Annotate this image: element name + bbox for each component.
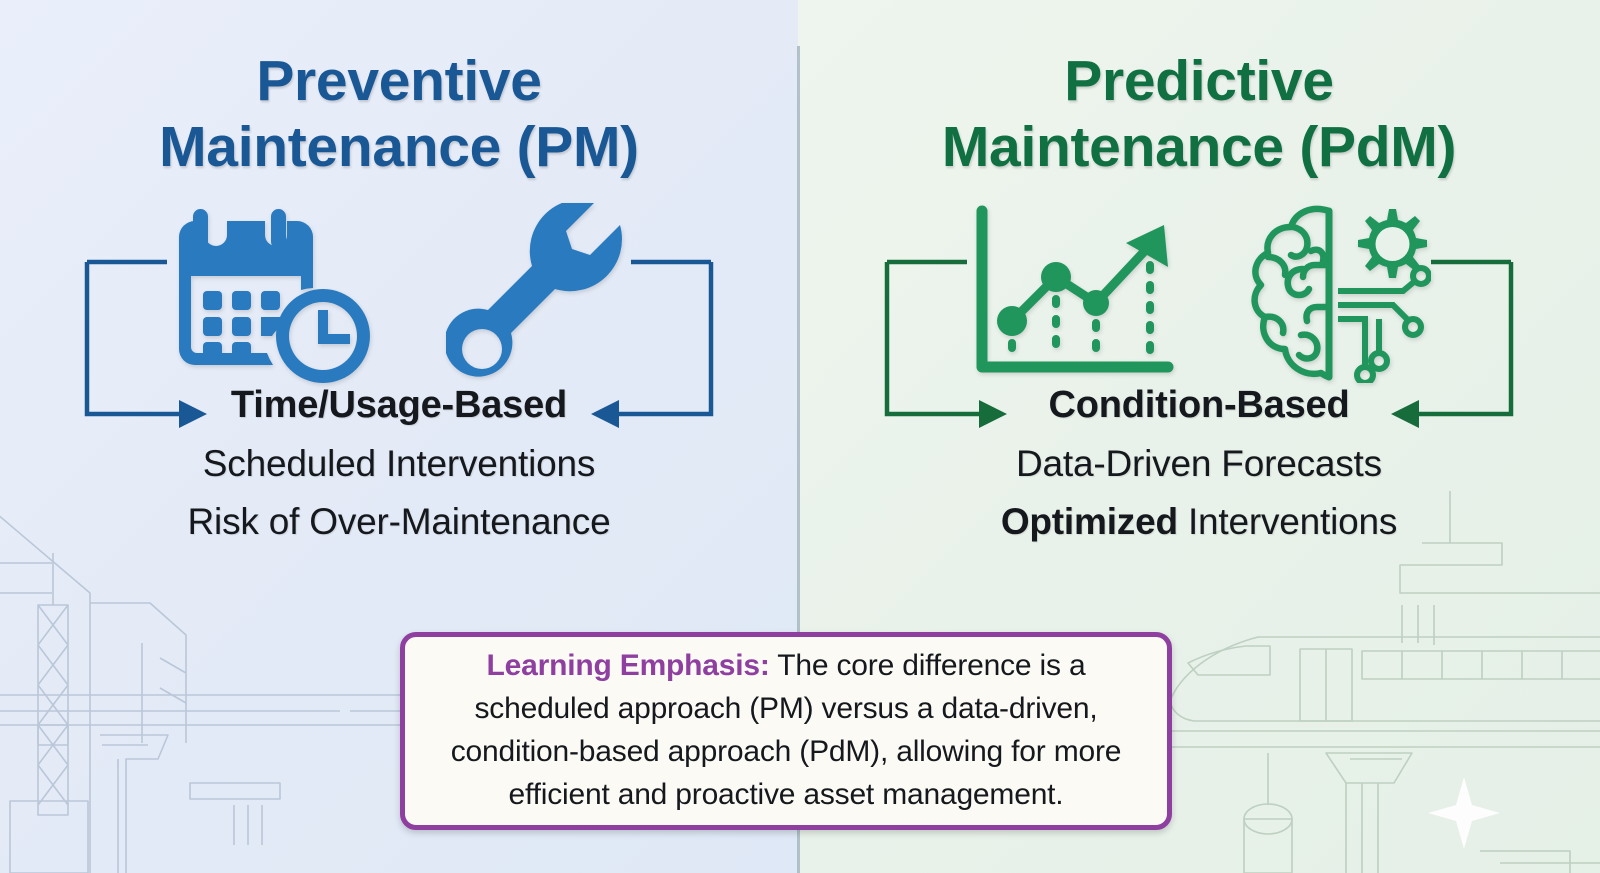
learning-emphasis-text: Learning Emphasis: The core difference i…: [431, 645, 1141, 817]
pdm-bracket-block: Condition-Based Data-Driven Forecasts Op…: [879, 384, 1519, 543]
pdm-title: Predictive Maintenance (PdM): [942, 48, 1456, 180]
pm-title: Preventive Maintenance (PM): [159, 48, 639, 180]
pm-bracket-block: Time/Usage-Based Scheduled Interventions…: [79, 384, 719, 543]
pdm-sub-line-2-rest: Interventions: [1178, 501, 1397, 542]
pm-title-line1: Preventive: [159, 48, 639, 114]
infographic-canvas: Preventive Maintenance (PM): [0, 0, 1600, 873]
pm-title-line2: Maintenance (PM): [159, 114, 639, 180]
learning-emphasis-label: Learning Emphasis:: [487, 649, 770, 682]
pdm-primary-label: Condition-Based: [879, 384, 1519, 427]
learning-emphasis-callout: Learning Emphasis: The core difference i…: [400, 632, 1172, 830]
pdm-sub-line-2-emphasis: Optimized: [1001, 501, 1178, 542]
pdm-sub-line-2: Optimized Interventions: [879, 501, 1519, 543]
pdm-title-line1: Predictive: [942, 48, 1456, 114]
pm-sub-line-2: Risk of Over-Maintenance: [79, 501, 719, 543]
pdm-title-line2: Maintenance (PdM): [942, 114, 1456, 180]
pm-primary-label: Time/Usage-Based: [79, 384, 719, 427]
